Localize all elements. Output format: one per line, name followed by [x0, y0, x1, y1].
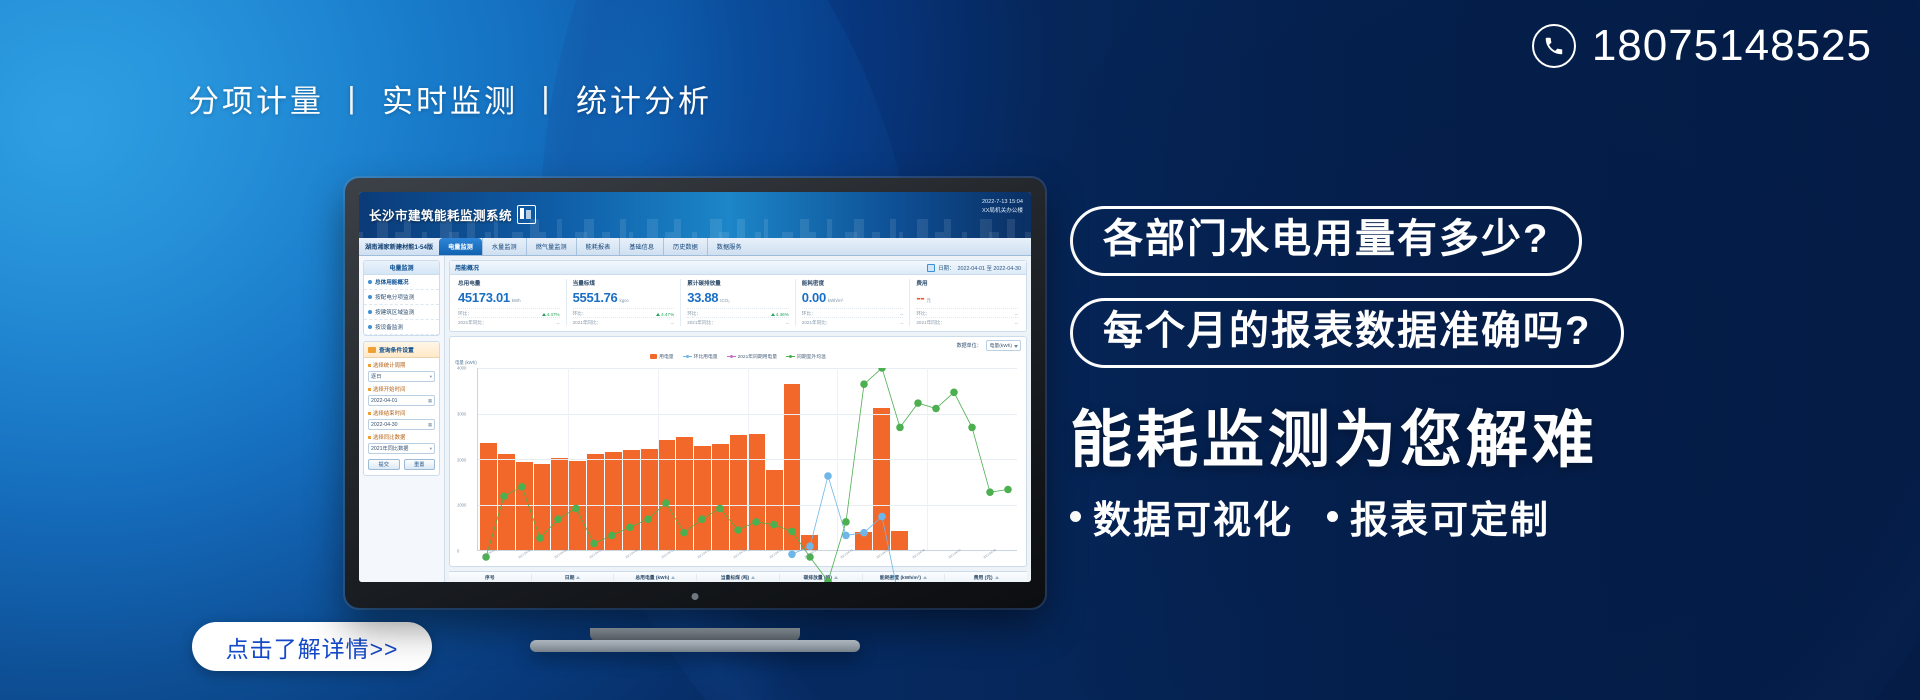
kpi-delta: --: [557, 321, 560, 326]
required-marker-icon: [368, 388, 371, 391]
label-text: 选择结束时间: [373, 409, 405, 417]
app-screen: 长沙市建筑能耗监测系统 2022-7-13 15:04 XX局机关办公楼 湖南湘…: [359, 192, 1031, 582]
overview-panel: 用能概况 日期：2022-04-01 至 2022-04-30 总用电量4517…: [449, 260, 1027, 332]
kpi-compare-label: 环比：: [802, 311, 816, 317]
arrow-up-icon: [542, 313, 546, 316]
app-body: 电量监测 总体用能概况 按配电分项监测 按建筑区域监测 按设备监测 查询条件设置: [359, 256, 1031, 582]
y-tick-label: 3000: [457, 411, 466, 416]
kpi-value-row: 45173.01kWh: [458, 290, 560, 305]
kpi-compare-row: 2021年同比：--: [802, 317, 904, 326]
bullet-1-label: 数据可视化: [1093, 489, 1293, 544]
marketing-copy: 各部门水电用量有多少? 每个月的报表数据准确吗? 能耗监测为您解难 数据可视化 …: [1070, 206, 1860, 544]
y-tick-label: 0: [457, 549, 459, 554]
end-date-value: 2022-04-30: [371, 422, 398, 428]
sidebar-item-label: 按设备监测: [375, 323, 403, 331]
chart-point: [950, 389, 958, 397]
bullet-icon: [368, 310, 372, 314]
nav-tab-water[interactable]: 水量监测: [482, 238, 526, 255]
chart-point: [608, 532, 616, 540]
kpi-title: 能耗密度: [802, 279, 904, 287]
legend-label: 环比用电量: [694, 355, 718, 360]
kpi-compare-label: 2021年同比：: [802, 320, 831, 326]
kpi-unit: kWh/m²: [828, 298, 843, 303]
submit-button[interactable]: 提交: [368, 459, 400, 470]
chart-point: [860, 380, 868, 388]
chart-legend: 用电量环比用电量2021年同期用电量同期室外均温: [450, 351, 1026, 361]
calendar-icon: ▦: [428, 398, 432, 404]
chart-controls: 数据单位： 电量(kWh): [450, 337, 1026, 351]
chart-point: [590, 540, 598, 548]
kpi-title: 当量标煤: [573, 279, 675, 287]
nav-brand: 湖南湘家新建材能1-54版: [359, 238, 439, 255]
chart-point: [914, 399, 922, 407]
kpi-title: 累计碳排放量: [687, 279, 789, 287]
chart-point: [770, 521, 778, 529]
required-marker-icon: [368, 412, 371, 415]
monitor-bezel: 长沙市建筑能耗监测系统 2022-7-13 15:04 XX局机关办公楼 湖南湘…: [345, 178, 1045, 608]
chart-point: [1004, 486, 1012, 494]
query-field-label: 选择统计周期: [368, 361, 435, 369]
chart-panel: 数据单位： 电量(kWh) 用电量环比用电量2021年同期用电量同期室外均温 电…: [449, 336, 1027, 567]
chart-point: [986, 488, 994, 496]
y-tick-label: 2000: [457, 457, 466, 462]
kpi-title: 费用: [916, 279, 1018, 287]
overview-panel-header: 用能概况 日期：2022-04-01 至 2022-04-30: [450, 261, 1026, 275]
kpi-delta: --: [786, 321, 789, 326]
bullet-2-label: 报表可定制: [1350, 489, 1550, 544]
query-field-yoy: 选择同比数据 2021年同比数据▾: [364, 430, 439, 454]
kpi-value: 33.88: [687, 290, 718, 305]
kpi-value: 0.00: [802, 290, 826, 305]
yoy-select[interactable]: 2021年同比数据▾: [368, 443, 435, 454]
chart-point: [842, 518, 850, 526]
monitor-mockup: 长沙市建筑能耗监测系统 2022-7-13 15:04 XX局机关办公楼 湖南湘…: [345, 178, 1045, 608]
chart-point: [878, 368, 886, 372]
nav-tab-gas[interactable]: 燃气量监测: [526, 238, 576, 255]
calendar-icon: ▦: [428, 422, 432, 428]
legend-label: 同期室外均温: [797, 355, 826, 360]
calendar-icon: [927, 264, 935, 272]
kpi-value: 45173.01: [458, 290, 510, 305]
kpi-compare-label: 环比：: [916, 311, 930, 317]
kpi-compare-label: 环比：: [458, 311, 472, 317]
query-field-label: 选择开始时间: [368, 385, 435, 393]
kpi-compare-label: 2021年同比：: [687, 320, 716, 326]
nav-tab-data-service[interactable]: 数据服务: [707, 238, 751, 255]
legend-swatch: [786, 356, 795, 357]
legend-item: 同期室外均温: [786, 353, 826, 360]
kpi-unit: kWh: [512, 298, 521, 303]
feature-bullets: 数据可视化 报表可定制: [1070, 489, 1860, 544]
sidebar-item-label: 总体用能概况: [375, 278, 409, 286]
end-date-input[interactable]: 2022-04-30▦: [368, 419, 435, 430]
chart-point: [788, 528, 796, 536]
kpi-compare-row: 2021年同比：--: [573, 317, 675, 326]
y-tick-label: 4000: [457, 366, 466, 371]
building-icon: [517, 205, 536, 224]
kpi-value-row: --元: [916, 290, 1018, 305]
query-field-period: 选择统计周期 逐日▾: [364, 358, 439, 382]
tagline-sep-2: 丨: [530, 76, 564, 121]
tagline-item-1: 分项计量: [188, 84, 324, 119]
promo-banner: 18075148525 分项计量丨实时监测丨统计分析 各部门水电用量有多少? 每…: [0, 0, 1920, 700]
kpi-delta: --: [671, 321, 674, 326]
label-text: 选择开始时间: [373, 385, 405, 393]
legend-item: 2021年同期用电量: [727, 353, 777, 360]
kpi-compare-label: 环比：: [573, 311, 587, 317]
sidebar-item-label: 按配电分项监测: [375, 293, 414, 301]
header-username: XX局机关办公楼: [982, 207, 1023, 216]
date-range-value: 2022-04-01 至 2022-04-30: [957, 264, 1021, 272]
required-marker-icon: [368, 364, 371, 367]
kpi-compare-label: 2021年同比：: [573, 320, 602, 326]
legend-item: 环比用电量: [683, 353, 718, 360]
chart-point: [932, 405, 940, 413]
kpi-title: 总用电量: [458, 279, 560, 287]
label-text: 选择统计周期: [373, 361, 405, 369]
label-text: 选择同比数据: [373, 433, 405, 441]
bullet-icon: [368, 325, 372, 329]
chart-point: [896, 424, 904, 432]
bullet-2: 报表可定制: [1327, 489, 1550, 544]
app-sidebar: 电量监测 总体用能概况 按配电分项监测 按建筑区域监测 按设备监测 查询条件设置: [359, 256, 445, 582]
kpi-delta: 4.47%: [656, 312, 674, 317]
kpi-delta: --: [900, 321, 903, 326]
query-field-label: 选择同比数据: [368, 433, 435, 441]
chart-point: [680, 529, 688, 537]
legend-swatch: [727, 356, 736, 357]
query-panel-title: 查询条件设置: [364, 342, 439, 358]
arrow-up-icon: [771, 313, 775, 316]
chart-point: [716, 505, 724, 513]
nav-tab-electricity[interactable]: 电量监测: [439, 238, 482, 255]
bullet-icon: [368, 295, 372, 299]
phone-number: 18075148525: [1592, 24, 1872, 68]
kpi-unit: 元: [926, 298, 930, 304]
bullet-1: 数据可视化: [1070, 489, 1293, 544]
tagline-item-3: 统计分析: [576, 84, 712, 119]
kpi-delta: --: [1015, 312, 1018, 317]
kpi-compare-row: 环比：4.47%: [458, 308, 560, 317]
kpi-card: 总用电量45173.01kWh环比：4.47%2021年同比：--: [452, 279, 567, 326]
phone-circle-icon: [1532, 24, 1576, 68]
kpi-value-row: 33.88tCO₂: [687, 290, 789, 305]
headline: 能耗监测为您解难: [1070, 408, 1860, 475]
kpi-value: --: [916, 290, 924, 305]
question-pill-1: 各部门水电用量有多少?: [1070, 206, 1582, 276]
chevron-down-icon: ▾: [430, 446, 432, 452]
kpi-card: 费用--元环比：--2021年同比：--: [910, 279, 1024, 326]
period-select[interactable]: 逐日▾: [368, 371, 435, 382]
kpi-compare-row: 环比：--: [802, 308, 904, 317]
chart-point: [878, 513, 886, 521]
legend-swatch: [683, 356, 692, 357]
kpi-unit: kgce: [620, 298, 629, 303]
nav-tab-basic-info[interactable]: 基础信息: [619, 238, 663, 255]
chart-point: [968, 424, 976, 432]
kpi-compare-row: 2021年同比：--: [916, 317, 1018, 326]
legend-item: 用电量: [650, 353, 673, 360]
query-field-label: 选择结束时间: [368, 409, 435, 417]
bullet-dot-icon: [1070, 511, 1081, 522]
kpi-compare-row: 2021年同比：--: [687, 317, 789, 326]
yoy-value: 2021年同比数据: [371, 445, 408, 452]
kpi-unit: tCO₂: [720, 298, 730, 303]
filter-icon: [368, 347, 376, 353]
chart-point: [824, 472, 832, 480]
app-title-text: 长沙市建筑能耗监测系统: [369, 205, 512, 224]
query-actions: 提交 重置: [364, 454, 439, 475]
chart-plot: 电量 (kWh) 01000200030004000 2022-04-01202…: [455, 361, 1021, 564]
sidebar-item-by-area[interactable]: 按建筑区域监测: [364, 305, 439, 320]
chart-point: [518, 483, 526, 491]
phone-contact[interactable]: 18075148525: [1532, 24, 1872, 68]
sidebar-item-by-distribution[interactable]: 按配电分项监测: [364, 290, 439, 305]
app-title: 长沙市建筑能耗监测系统: [369, 205, 536, 224]
kpi-card: 能耗密度0.00kWh/m²环比：--2021年同比：--: [796, 279, 911, 326]
kpi-row: 总用电量45173.01kWh环比：4.47%2021年同比：--当量标煤555…: [450, 275, 1026, 331]
kpi-card: 当量标煤5551.76kgce环比：4.47%2021年同比：--: [567, 279, 682, 326]
reset-button[interactable]: 重置: [404, 459, 436, 470]
query-panel-title-text: 查询条件设置: [379, 345, 414, 354]
y-tick-label: 1000: [457, 503, 466, 508]
tagline: 分项计量丨实时监测丨统计分析: [188, 76, 712, 121]
date-label: 日期：: [938, 264, 954, 272]
kpi-compare-label: 2021年同比：: [916, 320, 945, 326]
kpi-delta: 4.47%: [542, 312, 560, 317]
tagline-sep-1: 丨: [336, 76, 370, 121]
kpi-card: 累计碳排放量33.88tCO₂环比：4.46%2021年同比：--: [681, 279, 796, 326]
chart-unit-select[interactable]: 电量(kWh): [986, 340, 1021, 351]
kpi-delta: --: [1015, 321, 1018, 326]
kpi-delta: --: [900, 312, 903, 317]
chart-point: [500, 492, 508, 500]
chart-xaxis: 2022-04-012022-04-032022-04-052022-04-07…: [477, 552, 1017, 564]
overview-date-range: 日期：2022-04-01 至 2022-04-30: [927, 264, 1021, 272]
sidebar-item-by-device[interactable]: 按设备监测: [364, 320, 439, 335]
kpi-value-row: 5551.76kgce: [573, 290, 675, 305]
chevron-down-icon: ▾: [430, 374, 432, 380]
app-navbar[interactable]: 湖南湘家新建材能1-54版 电量监测 水量监测 燃气量监测 能耗报表 基础信息 …: [359, 238, 1031, 256]
kpi-value: 5551.76: [573, 290, 618, 305]
chart-point: [626, 524, 634, 532]
kpi-compare-label: 环比：: [687, 311, 701, 317]
app-main: 用能概况 日期：2022-04-01 至 2022-04-30 总用电量4517…: [445, 256, 1031, 582]
kpi-compare-row: 环比：4.46%: [687, 308, 789, 317]
required-marker-icon: [368, 436, 371, 439]
chart-point: [572, 505, 580, 513]
legend-label: 2021年同期用电量: [738, 355, 777, 360]
legend-label: 用电量: [659, 355, 673, 360]
chart-point: [554, 515, 562, 523]
nav-tab-history[interactable]: 历史数据: [663, 238, 707, 255]
cta-button[interactable]: 点击了解详情>>: [192, 622, 432, 671]
arrow-up-icon: [656, 313, 660, 316]
query-field-start: 选择开始时间 2022-04-01▦: [364, 382, 439, 406]
kpi-value-row: 0.00kWh/m²: [802, 290, 904, 305]
sidebar-item-overview[interactable]: 总体用能概况: [364, 275, 439, 290]
chart-point: [698, 515, 706, 523]
chart-point: [536, 534, 544, 542]
overview-panel-title: 用能概况: [455, 263, 479, 272]
bullet-dot-icon: [1327, 511, 1338, 522]
tagline-item-2: 实时监测: [382, 84, 518, 119]
sidebar-item-label: 按建筑区域监测: [375, 308, 414, 316]
chart-point: [662, 499, 670, 507]
kpi-compare-row: 2021年同比：--: [458, 317, 560, 326]
chart-point: [644, 515, 652, 523]
start-date-input[interactable]: 2022-04-01▦: [368, 395, 435, 406]
period-value: 逐日: [371, 373, 381, 380]
query-panel: 查询条件设置 选择统计周期 逐日▾ 选择开始时间 2022-04-01▦: [363, 341, 440, 476]
chart-point: [842, 532, 850, 540]
header-user-info: 2022-7-13 15:04 XX局机关办公楼: [982, 198, 1023, 216]
question-pill-2: 每个月的报表数据准确吗?: [1070, 298, 1624, 368]
sidebar-section-title: 电量监测: [364, 261, 439, 275]
app-header: 长沙市建筑能耗监测系统 2022-7-13 15:04 XX局机关办公楼: [359, 192, 1031, 238]
chart-unit-label: 数据单位：: [957, 342, 982, 349]
chart-point: [734, 526, 742, 534]
query-field-end: 选择结束时间 2022-04-30▦: [364, 406, 439, 430]
nav-tab-report[interactable]: 能耗报表: [576, 238, 620, 255]
monitor-stand-base: [530, 640, 860, 652]
kpi-compare-label: 2021年同比：: [458, 320, 487, 326]
legend-swatch: [650, 354, 657, 359]
start-date-value: 2022-04-01: [371, 398, 398, 404]
header-time: 2022-7-13 15:04: [982, 198, 1023, 207]
chart-point: [752, 518, 760, 526]
chart-point: [860, 529, 868, 537]
kpi-compare-row: 环比：4.47%: [573, 308, 675, 317]
bullet-icon: [368, 280, 372, 284]
sidebar-nav-card: 电量监测 总体用能概况 按配电分项监测 按建筑区域监测 按设备监测: [363, 260, 440, 336]
kpi-compare-row: 环比：--: [916, 308, 1018, 317]
kpi-delta: 4.46%: [771, 312, 789, 317]
